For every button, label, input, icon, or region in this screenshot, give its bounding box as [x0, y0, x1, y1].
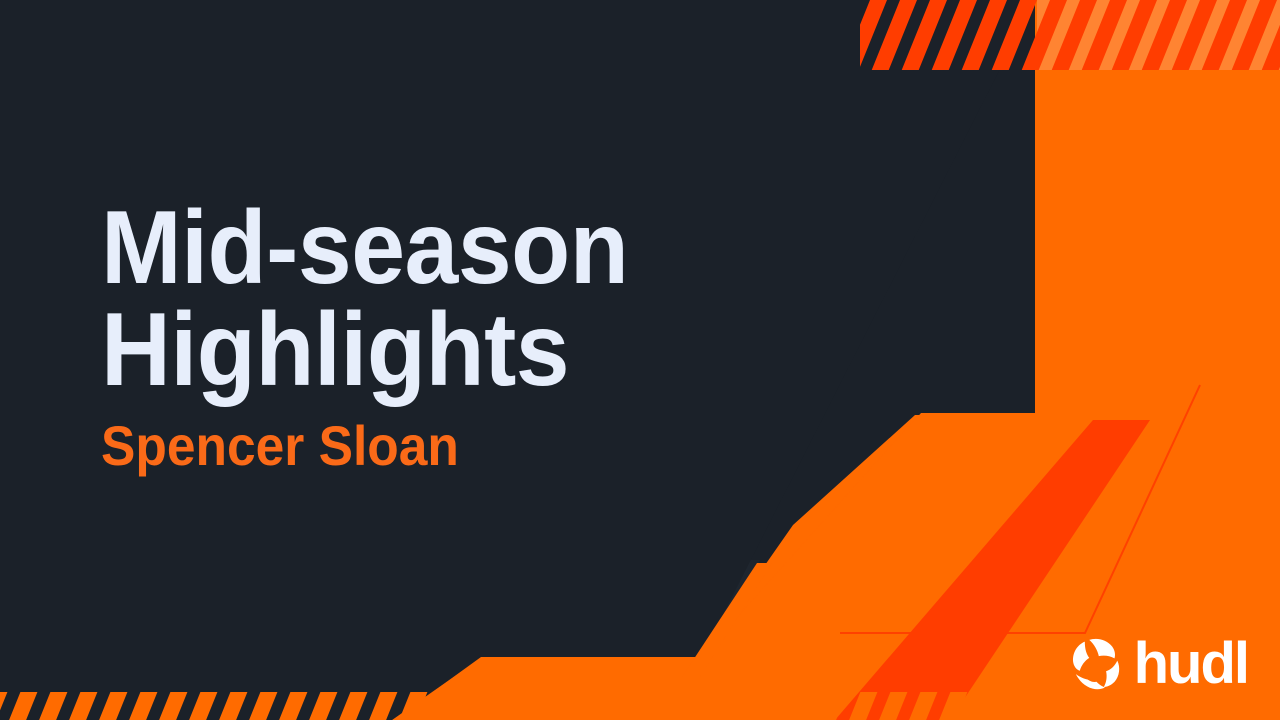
hudl-shield-mark — [1068, 636, 1124, 692]
highlight-title-card: Mid-season Highlights Spencer Sloan hudl — [0, 0, 1280, 720]
hudl-wordmark: hudl — [1134, 640, 1248, 688]
title-line-2: Highlights — [101, 300, 752, 402]
hatch-band-top-right — [860, 0, 1280, 72]
title-text-block: Mid-season Highlights Spencer Sloan — [101, 198, 801, 474]
hatch-band-bottom-left — [0, 692, 1008, 720]
title-line-1: Mid-season — [101, 198, 752, 300]
athlete-name: Spencer Sloan — [101, 418, 745, 474]
hudl-logo: hudl — [1068, 636, 1248, 692]
